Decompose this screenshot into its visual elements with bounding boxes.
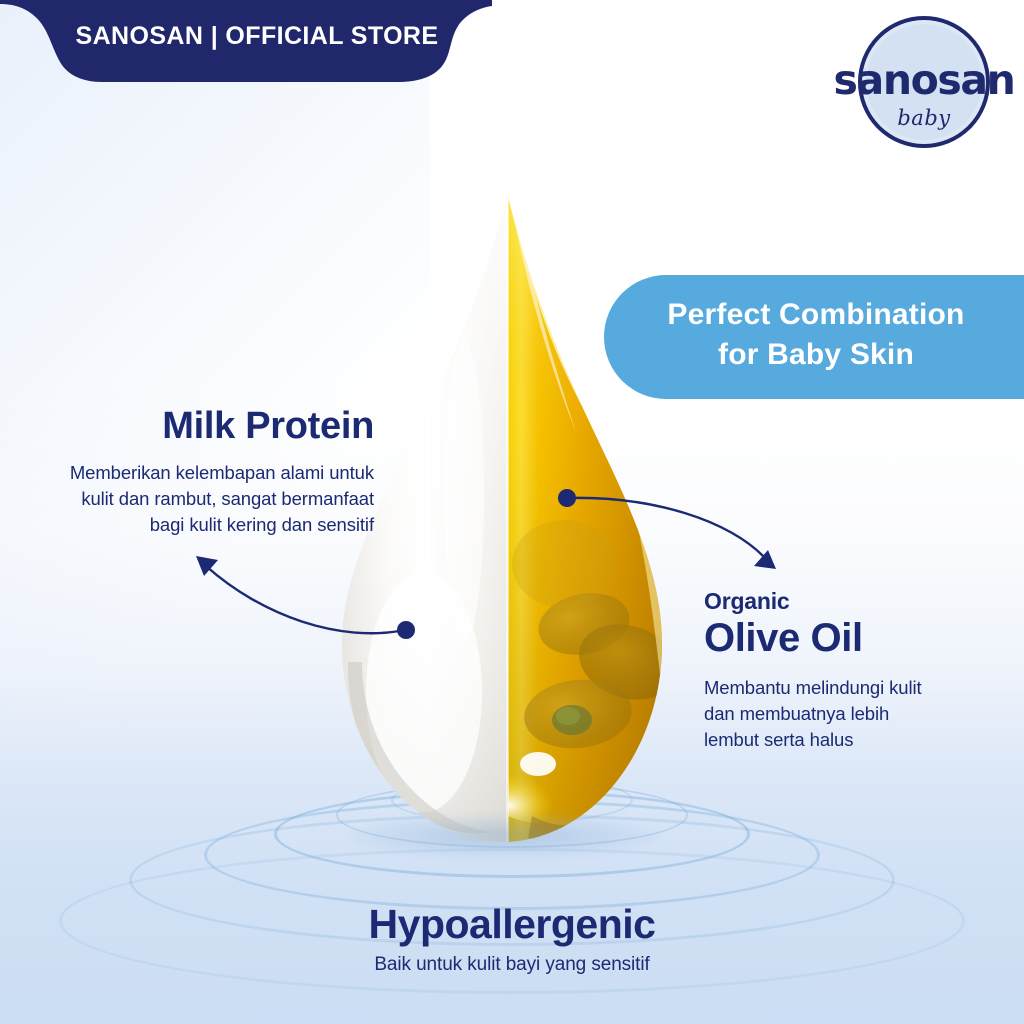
feature-milk-protein: Milk Protein Memberikan kelembapan alami…	[18, 404, 374, 538]
claim-title: Hypoallergenic	[0, 900, 1024, 948]
olive-oil-body-line-1: Membantu melindungi kulit	[704, 675, 1014, 701]
milk-protein-body-line-3: bagi kulit kering dan sensitif	[18, 512, 374, 538]
feature-olive-oil: Organic Olive Oil Membantu melindungi ku…	[704, 588, 1014, 753]
badge-line-1: Perfect Combination	[640, 295, 992, 335]
store-banner: SANOSAN | OFFICIAL STORE	[0, 0, 492, 84]
olive-oil-body: Membantu melindungi kulit dan membuatnya…	[704, 675, 1014, 753]
sanosan-logo: sanosan baby	[828, 14, 1020, 156]
logo-wordmark: sanosan	[828, 56, 1020, 104]
olive-oil-eyebrow: Organic	[704, 588, 1014, 615]
olive-oil-body-line-3: lembut serta halus	[704, 727, 1014, 753]
olive-oil-body-line-2: dan membuatnya lebih	[704, 701, 1014, 727]
hypoallergenic-claim: Hypoallergenic Baik untuk kulit bayi yan…	[0, 900, 1024, 978]
milk-protein-body-line-2: kulit dan rambut, sangat bermanfaat	[18, 486, 374, 512]
milk-protein-title: Milk Protein	[18, 404, 374, 448]
olive-oil-title: Olive Oil	[704, 615, 1014, 661]
claim-subtitle: Baik untuk kulit bayi yang sensitif	[0, 952, 1024, 978]
milk-protein-body-line-1: Memberikan kelembapan alami untuk	[18, 460, 374, 486]
infographic-canvas: SANOSAN | OFFICIAL STORE sanosan baby Pe…	[0, 0, 1024, 1024]
droplet-ground-shadow	[350, 814, 660, 858]
badge-text: Perfect Combination for Baby Skin	[640, 295, 992, 375]
logo-subtitle: baby	[828, 106, 1020, 130]
perfect-combination-badge: Perfect Combination for Baby Skin	[604, 275, 1024, 399]
milk-protein-body: Memberikan kelembapan alami untuk kulit …	[18, 460, 374, 538]
badge-line-2: for Baby Skin	[640, 335, 992, 375]
store-banner-label: SANOSAN | OFFICIAL STORE	[0, 22, 492, 51]
